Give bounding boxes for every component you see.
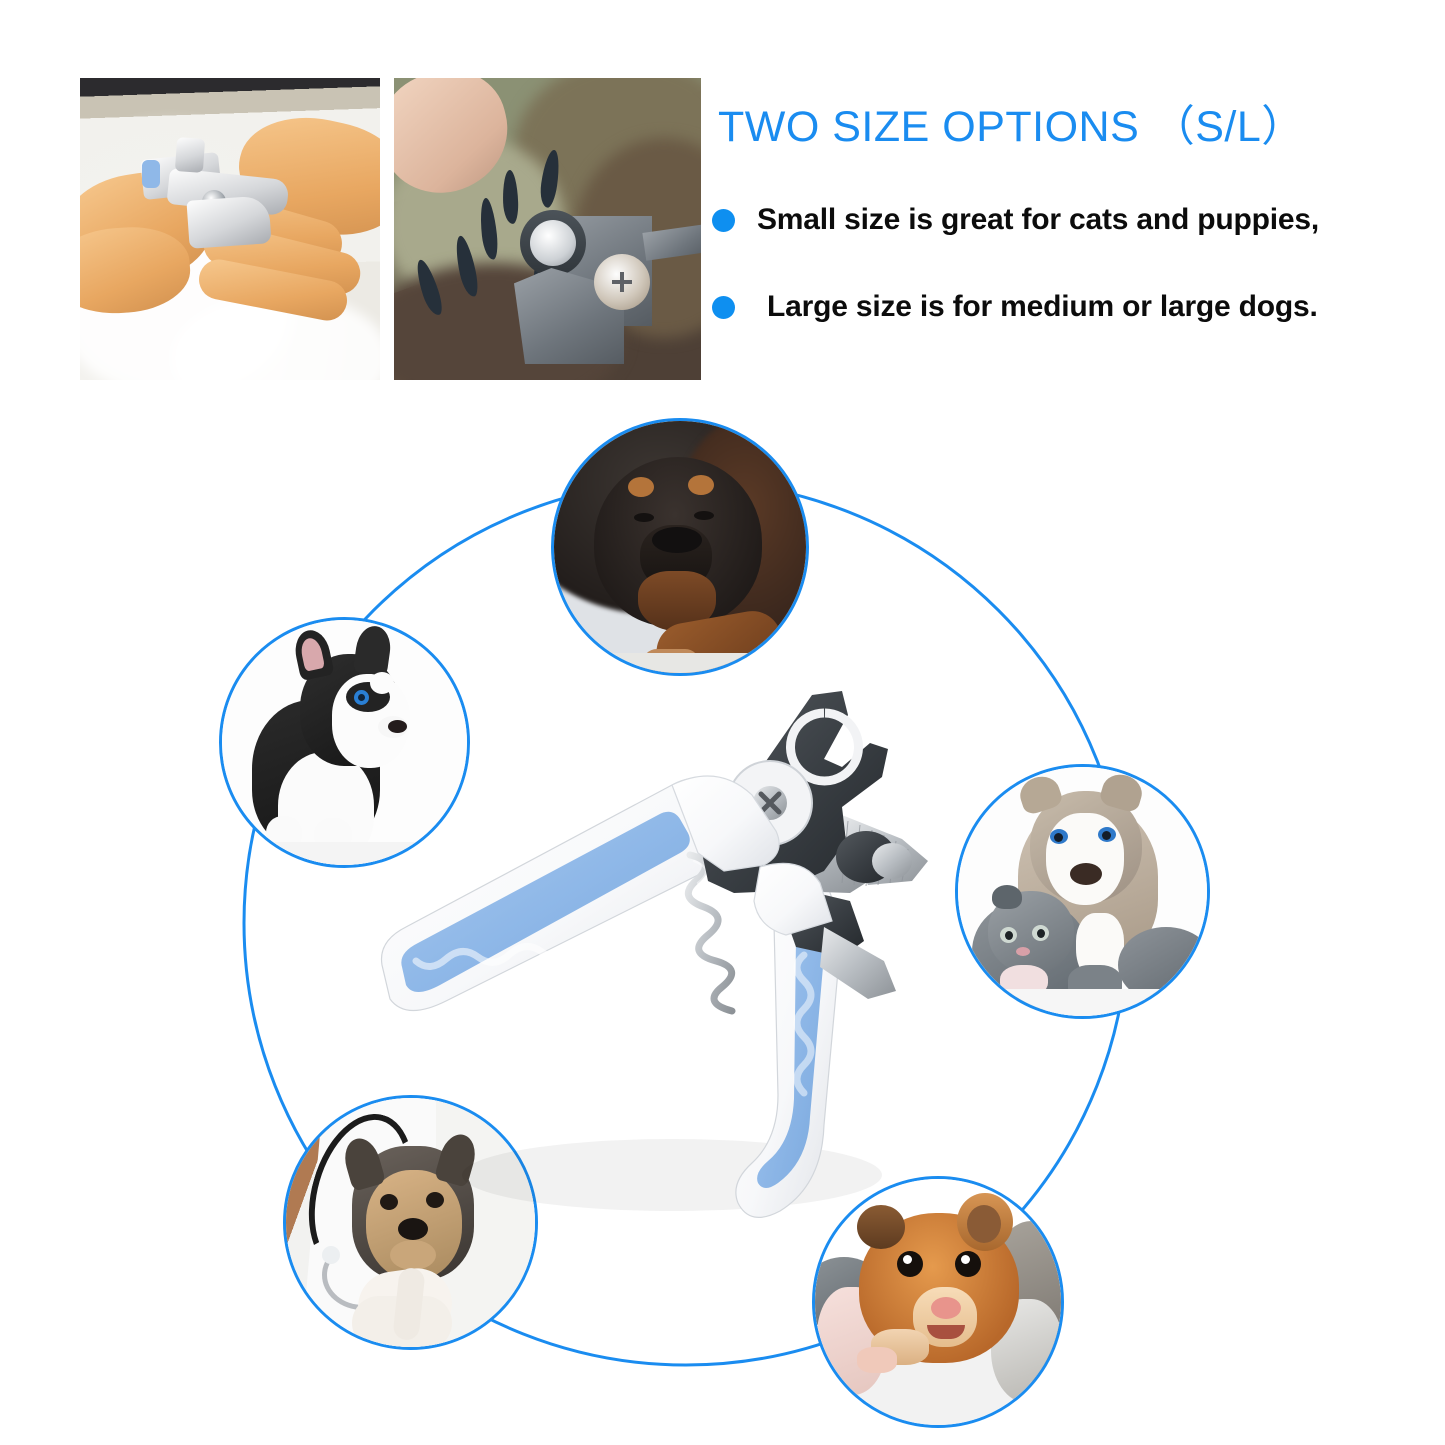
bubble-tibetan-mastiff [551, 418, 809, 676]
pet-nail-clipper [372, 655, 947, 1235]
marketing-image-canvas: TWO SIZE OPTIONS （S/L） Small size is gre… [0, 0, 1445, 1445]
bubble-puppy-and-kitten [955, 764, 1210, 1019]
